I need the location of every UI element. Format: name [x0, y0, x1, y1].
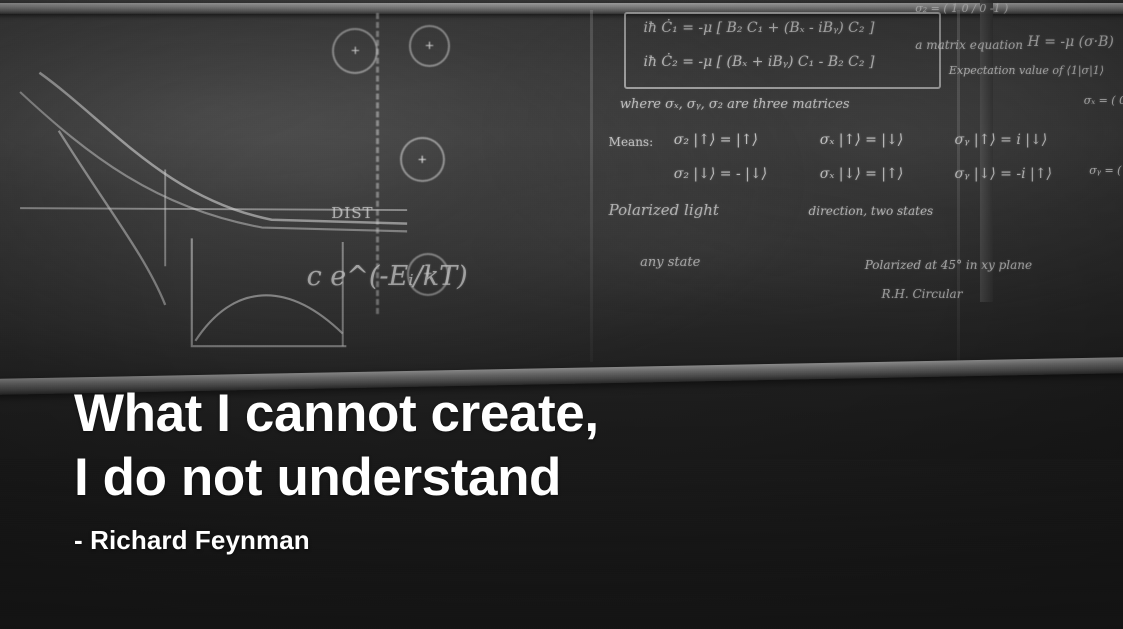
- quote-block: What I cannot create, I do not understan…: [74, 382, 599, 556]
- quote-line-1: What I cannot create,: [74, 382, 599, 446]
- quote-line-2: I do not understand: [74, 446, 599, 510]
- quote-attribution: - Richard Feynman: [74, 525, 599, 556]
- quote-image-card: DIST c e^(-Eᵢ/kT) + + + + iħ Ċ₁ = -μ [ B…: [0, 0, 1123, 629]
